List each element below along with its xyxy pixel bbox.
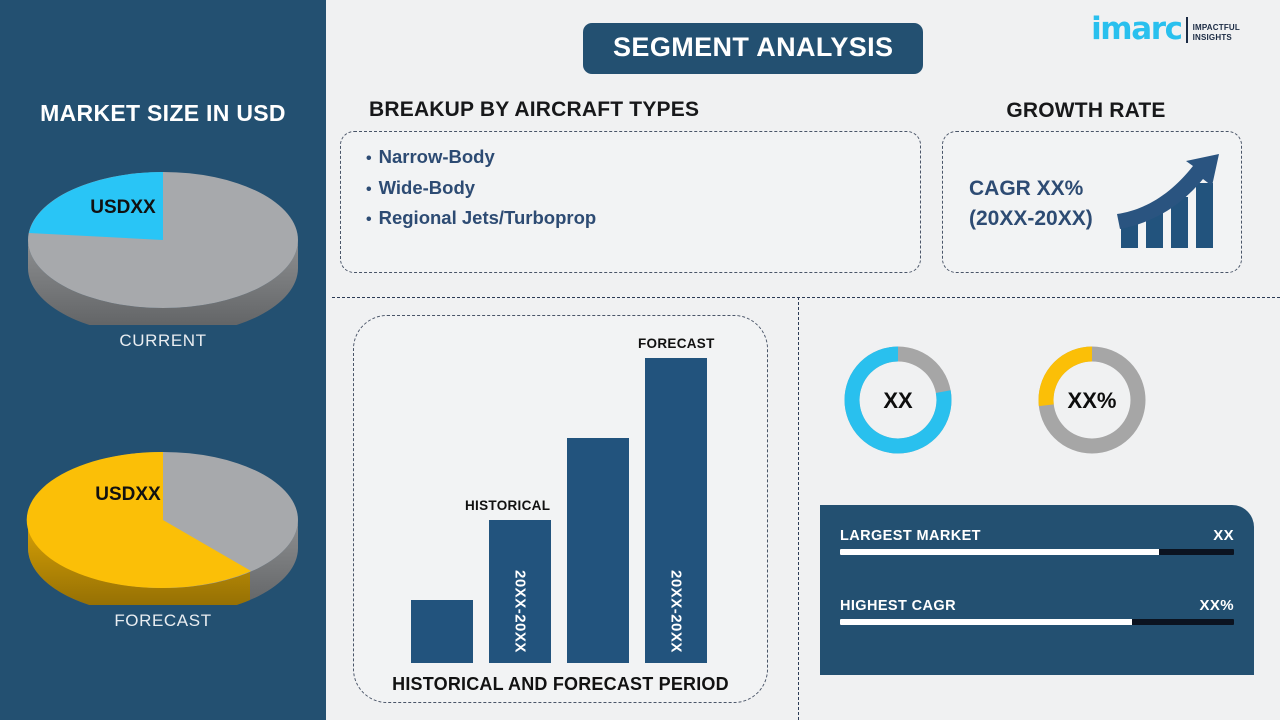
growth-rate-heading: GROWTH RATE [942,99,1230,123]
current-pie-block: USDXX CURRENT [0,150,326,351]
current-pie-chart: USDXX [18,150,308,325]
forecast-annotation: FORECAST [638,336,715,351]
stat-label: HIGHEST CAGR [840,598,956,614]
bar-label-3: 20XX-20XX [668,570,685,653]
bar-label-1: 20XX-20XX [512,570,529,653]
stat-row-largest-market: LARGEST MARKET XX [840,527,1234,555]
sidebar-title: MARKET SIZE IN USD [0,100,326,127]
progress-track [840,549,1234,555]
list-item: • Narrow-Body [366,143,596,174]
forecast-pie-label: USDXX [95,484,161,505]
forecast-pie-caption: FORECAST [0,611,326,631]
forecast-pie-chart: USDXX [18,430,308,605]
logo-tagline-line1: IMPACTFUL [1193,23,1240,32]
largest-market-donut: XX [838,340,958,460]
current-pie-caption: CURRENT [0,331,326,351]
breakup-heading: BREAKUP BY AIRCRAFT TYPES [369,98,699,122]
logo-divider [1186,17,1188,43]
bullet-icon: • [366,176,372,205]
list-item: • Wide-Body [366,174,596,205]
bullet-icon: • [366,206,372,235]
bar-2 [567,438,629,663]
stat-row-highest-cagr: HIGHEST CAGR XX% [840,597,1234,625]
progress-track [840,619,1234,625]
stat-label: LARGEST MARKET [840,528,981,544]
breakup-item-label: Wide-Body [379,174,475,203]
bar-chart-caption: HISTORICAL AND FORECAST PERIOD [353,674,768,695]
cagr-line1: CAGR XX% [969,174,1093,204]
bullet-icon: • [366,145,372,174]
growth-rate-panel: CAGR XX% (20XX-20XX) [942,131,1242,273]
progress-fill [840,549,1159,555]
stat-value: XX% [1199,597,1234,614]
horizontal-divider [332,297,1280,298]
list-item: • Regional Jets/Turboprop [366,204,596,235]
growth-arrow-bars-icon [1115,150,1225,255]
logo-wordmark: imarc [1091,14,1182,45]
imarc-logo: imarc IMPACTFUL INSIGHTS [1091,14,1240,45]
cagr-line2: (20XX-20XX) [969,204,1093,234]
forecast-pie-block: USDXX FORECAST [0,430,326,631]
highest-cagr-donut-value: XX% [1068,388,1117,413]
current-pie-label: USDXX [90,197,156,218]
page-title: SEGMENT ANALYSIS [583,23,923,74]
market-size-sidebar: MARKET SIZE IN USD USDXX CURRENT [0,0,326,720]
bar-1: 20XX-20XX [489,520,551,663]
breakup-list: • Narrow-Body • Wide-Body • Regional Jet… [366,143,596,235]
breakup-item-label: Narrow-Body [379,143,495,172]
breakup-item-label: Regional Jets/Turboprop [379,204,597,233]
market-stats-card: LARGEST MARKET XX HIGHEST CAGR XX% [820,505,1254,675]
historical-annotation: HISTORICAL [465,498,550,513]
logo-tagline: IMPACTFUL INSIGHTS [1193,23,1240,43]
donut-row: XX XX% [806,340,1276,505]
infographic-root: MARKET SIZE IN USD USDXX CURRENT [0,0,1280,720]
largest-market-donut-value: XX [883,388,913,413]
stat-value: XX [1213,527,1234,544]
bar-0 [411,600,473,663]
breakup-panel: • Narrow-Body • Wide-Body • Regional Jet… [340,131,921,273]
bar-3: 20XX-20XX [645,358,707,663]
progress-fill [840,619,1132,625]
historical-forecast-bar-chart: 20XX-20XX HISTORICAL 20XX-20XX FORECAST … [353,315,768,703]
vertical-divider [798,297,799,720]
logo-tagline-line2: INSIGHTS [1193,33,1232,42]
cagr-text: CAGR XX% (20XX-20XX) [969,174,1093,234]
highest-cagr-donut: XX% [1032,340,1152,460]
content-stage: SEGMENT ANALYSIS imarc IMPACTFUL INSIGHT… [326,0,1280,720]
